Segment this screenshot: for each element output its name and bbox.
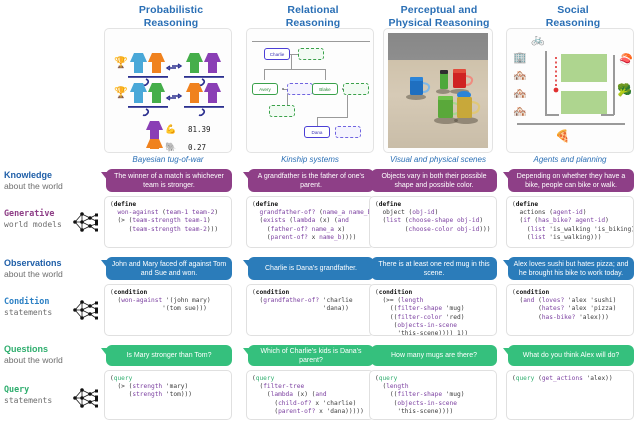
knowledge-bubble-relational: A grandfather is the father of one's par…	[248, 169, 374, 192]
row-label-title: Observations	[4, 258, 99, 269]
scene-wall	[388, 33, 488, 60]
column-header-probabilistic: Probabilistic Reasoning	[104, 4, 238, 29]
bubble-text: Depending on whether they have a bike, p…	[513, 172, 629, 190]
bubble-tail	[101, 348, 108, 357]
bubble-tail	[503, 260, 510, 269]
mug-scene-image	[388, 33, 488, 148]
broccoli-icon: 🥦	[617, 83, 632, 97]
generative-code-perceptual: (define object (obj-id) (list (choose-sh…	[369, 196, 497, 248]
kinship-top-rule	[252, 41, 370, 42]
question-bubble-relational: Which of Charlie's kids is Dana's parent…	[248, 345, 374, 366]
row-label-questions: Questions about the world	[4, 344, 99, 366]
example-panel-social: 🚲 🏢 🏘️ 🏘️ 🏘️ 🍣 🥦 🍕	[506, 28, 634, 153]
road-left	[545, 51, 547, 115]
kinship-edge	[264, 69, 265, 80]
house-icon: 🏘️	[513, 105, 527, 118]
column-header-line1: Social	[506, 4, 640, 17]
kinship-edge	[264, 69, 326, 70]
bubble-tail	[366, 260, 373, 269]
tug-of-war-value-1: 81.39	[188, 125, 211, 134]
kinship-node-dana[interactable]: Dana	[304, 126, 330, 138]
road-right	[613, 55, 615, 115]
sushi-icon: 🍣	[619, 53, 633, 66]
column-header-social: Social Reasoning	[506, 4, 640, 29]
elephant-icon: 🐘	[165, 142, 176, 153]
row-label-title: Knowledge	[4, 170, 99, 181]
road-left-bottom	[545, 114, 559, 116]
network-graph-icon	[68, 295, 102, 325]
bubble-tail	[366, 172, 373, 181]
city-block	[561, 91, 607, 114]
observation-bubble-probabilistic: John and Mary faced off against Tom and …	[106, 257, 232, 280]
row-label-subtitle: about the world	[4, 181, 99, 192]
query-code-perceptual: (query (length ((filter-shape 'mug) (obj…	[369, 370, 497, 420]
panel-caption-perceptual: Visual and physical scenes	[369, 155, 507, 164]
query-code-probabilistic: (query (> (strength 'mary) (strength 'to…	[104, 370, 232, 420]
column-header-line1: Perceptual and	[364, 4, 514, 17]
house-icon: 🏘️	[513, 69, 527, 82]
mug-yellow	[454, 89, 484, 119]
office-building-icon: 🏢	[513, 51, 527, 64]
bubble-tail	[101, 260, 108, 269]
knowledge-bubble-social: Depending on whether they have a bike, p…	[508, 169, 634, 192]
example-panel-perceptual	[383, 28, 493, 153]
generative-code-probabilistic: (define won-against (team-1 team-2) (> (…	[104, 196, 232, 248]
kinship-edge	[291, 54, 292, 69]
kinship-node-blake[interactable]: Blake	[312, 83, 338, 95]
house-icon: 🏘️	[513, 87, 527, 100]
question-bubble-probabilistic: Is Mary stronger than Tom?	[106, 345, 232, 366]
kinship-node-unknown[interactable]	[335, 126, 361, 138]
condition-code-probabilistic: (condition (won-against '(john mary) '(t…	[104, 284, 232, 336]
observation-bubble-social: Alex loves sushi but hates pizza; and he…	[508, 257, 634, 280]
mug-blue	[407, 75, 435, 99]
agent-path-icon	[551, 55, 565, 99]
bubble-text: Which of Charlie's kids is Dana's parent…	[253, 347, 369, 365]
example-panel-probabilistic: 🏆	[104, 28, 232, 153]
network-graph-icon	[68, 207, 102, 237]
kinship-edge	[317, 117, 348, 118]
bubble-text: Charlie is Dana's grandfather.	[265, 264, 357, 273]
row-label-title: Questions	[4, 344, 99, 355]
column-header-relational: Relational Reasoning	[246, 4, 380, 29]
question-bubble-perceptual: How many mugs are there?	[371, 345, 497, 366]
bicycle-icon: 🚲	[531, 33, 545, 46]
row-label-observations: Observations about the world	[4, 258, 99, 280]
bubble-text: John and Mary faced off against Tom and …	[111, 260, 227, 278]
bubble-tail	[243, 348, 250, 357]
bubble-tail	[366, 348, 373, 357]
generative-code-relational: (define grandfather-of? (name_a name_b) …	[246, 196, 374, 248]
network-graph-icon	[68, 383, 102, 413]
observation-bubble-relational: Charlie is Dana's grandfather.	[248, 257, 374, 280]
column-header-line1: Relational	[246, 4, 380, 17]
kinship-node-unknown[interactable]	[269, 105, 295, 117]
bubble-text: A grandfather is the father of one's par…	[253, 172, 369, 190]
panel-caption-probabilistic: Bayesian tug-of-war	[104, 155, 232, 164]
bubble-tail	[243, 260, 250, 269]
generative-code-social: (define actions (agent-id) (if (has_bike…	[506, 196, 634, 248]
pizza-icon: 🍕	[555, 129, 570, 143]
kinship-node-unknown[interactable]	[287, 83, 313, 95]
kinship-node-avery[interactable]: Avery	[252, 83, 278, 95]
kinship-node-unknown[interactable]	[298, 48, 324, 60]
road-right-bottom	[601, 114, 614, 116]
kinship-node-charlie[interactable]: Charlie	[264, 48, 290, 60]
bubble-text: How many mugs are there?	[391, 351, 477, 360]
query-code-social: (query (get_actions 'alex))	[506, 370, 634, 420]
condition-code-perceptual: (condition (>= (length ((filter-shape 'm…	[369, 284, 497, 336]
bubble-text: The winner of a match is whichever team …	[111, 172, 227, 190]
city-block	[561, 54, 607, 82]
example-panel-relational: Charlie Avery Blake Dana	[246, 28, 374, 153]
kinship-union-dot	[282, 88, 284, 90]
condition-code-relational: (condition (grandfather-of? 'charlie 'da…	[246, 284, 374, 336]
row-label-subtitle: about the world	[4, 269, 99, 280]
tug-of-war-value-2: 0.27	[188, 143, 206, 152]
bubble-tail	[503, 348, 510, 357]
panel-caption-social: Agents and planning	[506, 155, 634, 164]
muscle-icon: 💪	[165, 124, 176, 135]
bubble-tail	[503, 172, 510, 181]
can-green	[437, 69, 451, 91]
column-header-line1: Probabilistic	[104, 4, 238, 17]
knowledge-bubble-perceptual: Objects vary in both their possible shap…	[371, 169, 497, 192]
row-label-subtitle: about the world	[4, 355, 99, 366]
trophy-icon: 🏆	[114, 86, 128, 99]
bubble-tail	[243, 172, 250, 181]
panel-caption-relational: Kinship systems	[246, 155, 374, 164]
knowledge-bubble-probabilistic: The winner of a match is whichever team …	[106, 169, 232, 192]
bubble-text: Is Mary stronger than Tom?	[126, 351, 211, 360]
query-code-relational: (query (filter-tree (lambda (x) (and (ch…	[246, 370, 374, 420]
kinship-node-unknown[interactable]	[343, 83, 369, 95]
question-bubble-social: What do you think Alex will do?	[508, 345, 634, 366]
figure-root: Probabilistic Reasoning Relational Reaso…	[0, 0, 640, 438]
kinship-edge	[325, 69, 326, 80]
observation-bubble-perceptual: There is at least one red mug in this sc…	[371, 257, 497, 280]
bubble-tail	[101, 172, 108, 181]
bubble-text: What do you think Alex will do?	[523, 351, 620, 360]
column-header-perceptual: Perceptual and Physical Reasoning	[364, 4, 514, 29]
road-bottom	[517, 123, 625, 125]
condition-code-social: (condition (and (loves? 'alex 'sushi) (h…	[506, 284, 634, 336]
mug-red	[450, 67, 476, 91]
row-label-knowledge: Knowledge about the world	[4, 170, 99, 192]
bubble-text: Alex loves sushi but hates pizza; and he…	[513, 260, 629, 278]
bubble-text: Objects vary in both their possible shap…	[376, 172, 492, 190]
bubble-text: There is at least one red mug in this sc…	[376, 260, 492, 278]
